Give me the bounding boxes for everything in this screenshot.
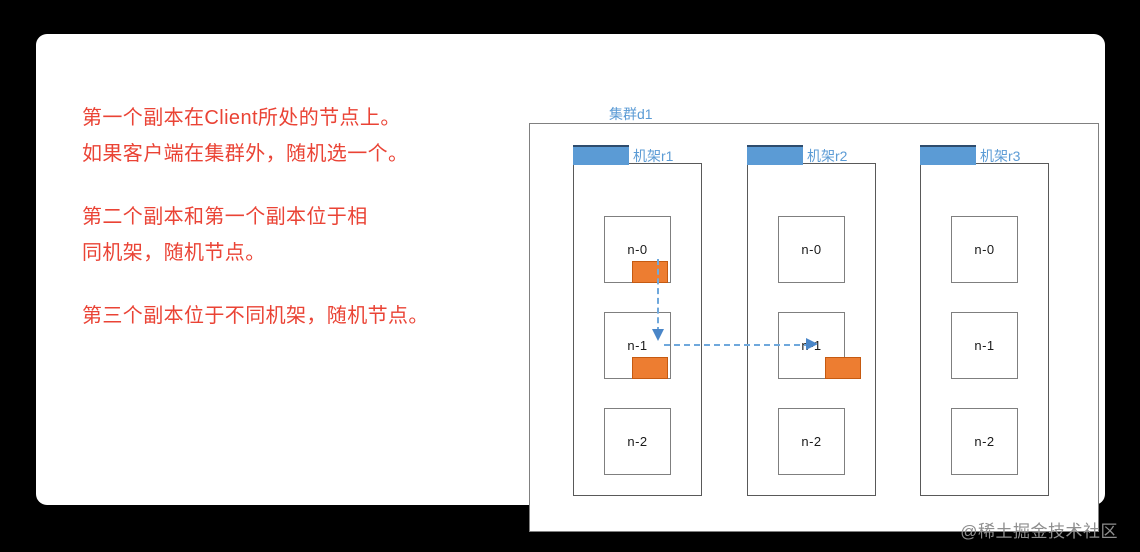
rack-header-bar <box>573 145 629 165</box>
replica-block <box>632 357 668 379</box>
connector-shaft <box>664 344 810 346</box>
note-line: 同机架，随机节点。 <box>82 235 482 271</box>
replica-block <box>825 357 861 379</box>
node-box: n-0 <box>604 216 671 283</box>
connector-shaft <box>657 259 659 333</box>
note-line: 第二个副本和第一个副本位于相 <box>82 199 482 235</box>
note-block-rule-3: 第三个副本位于不同机架，随机节点。 <box>82 298 482 334</box>
node-box: n-2 <box>951 408 1018 475</box>
watermark: @稀土掘金技术社区 <box>960 517 1118 542</box>
rack-header-bar <box>920 145 976 165</box>
replica-block <box>632 261 668 283</box>
node-box: n-2 <box>778 408 845 475</box>
node-box: n-0 <box>778 216 845 283</box>
note-block-rule-2: 第二个副本和第一个副本位于相 同机架，随机节点。 <box>82 199 482 271</box>
rack-label: 机架r3 <box>980 146 1020 166</box>
rack-label: 机架r2 <box>807 146 847 166</box>
rack-r2: 机架r2 n-0 n-1 n-2 <box>747 145 876 496</box>
node-label: n-2 <box>779 409 844 474</box>
arrowhead-down-icon <box>652 329 664 341</box>
node-box: n-1 <box>604 312 671 379</box>
node-label: n-2 <box>605 409 670 474</box>
rack-r3: 机架r3 n-0 n-1 n-2 <box>920 145 1049 496</box>
annotation-notes: 第一个副本在Client所处的节点上。 如果客户端在集群外，随机选一个。 第二个… <box>82 100 482 361</box>
node-label: n-1 <box>952 313 1017 378</box>
rack-label: 机架r1 <box>633 146 673 166</box>
rack-header-bar <box>747 145 803 165</box>
arrowhead-right-icon <box>806 338 818 350</box>
connector-arrow-horizontal <box>664 344 822 346</box>
node-box: n-0 <box>951 216 1018 283</box>
node-label: n-0 <box>779 217 844 282</box>
rack-body: n-0 n-1 n-2 <box>747 163 876 496</box>
node-box: n-1 <box>951 312 1018 379</box>
content-card: 第一个副本在Client所处的节点上。 如果客户端在集群外，随机选一个。 第二个… <box>36 34 1105 505</box>
rack-r1: 机架r1 n-0 n-1 n-2 <box>573 145 702 496</box>
node-label: n-0 <box>952 217 1017 282</box>
connector-arrow-vertical <box>657 259 659 343</box>
cluster-label: 集群d1 <box>609 104 653 124</box>
note-line: 第三个副本位于不同机架，随机节点。 <box>82 298 482 334</box>
rack-body: n-0 n-1 n-2 <box>920 163 1049 496</box>
rack-body: n-0 n-1 n-2 <box>573 163 702 496</box>
note-line: 第一个副本在Client所处的节点上。 <box>82 100 482 136</box>
note-line: 如果客户端在集群外，随机选一个。 <box>82 136 482 172</box>
note-block-rule-1: 第一个副本在Client所处的节点上。 如果客户端在集群外，随机选一个。 <box>82 100 482 172</box>
node-label: n-2 <box>952 409 1017 474</box>
node-box: n-2 <box>604 408 671 475</box>
